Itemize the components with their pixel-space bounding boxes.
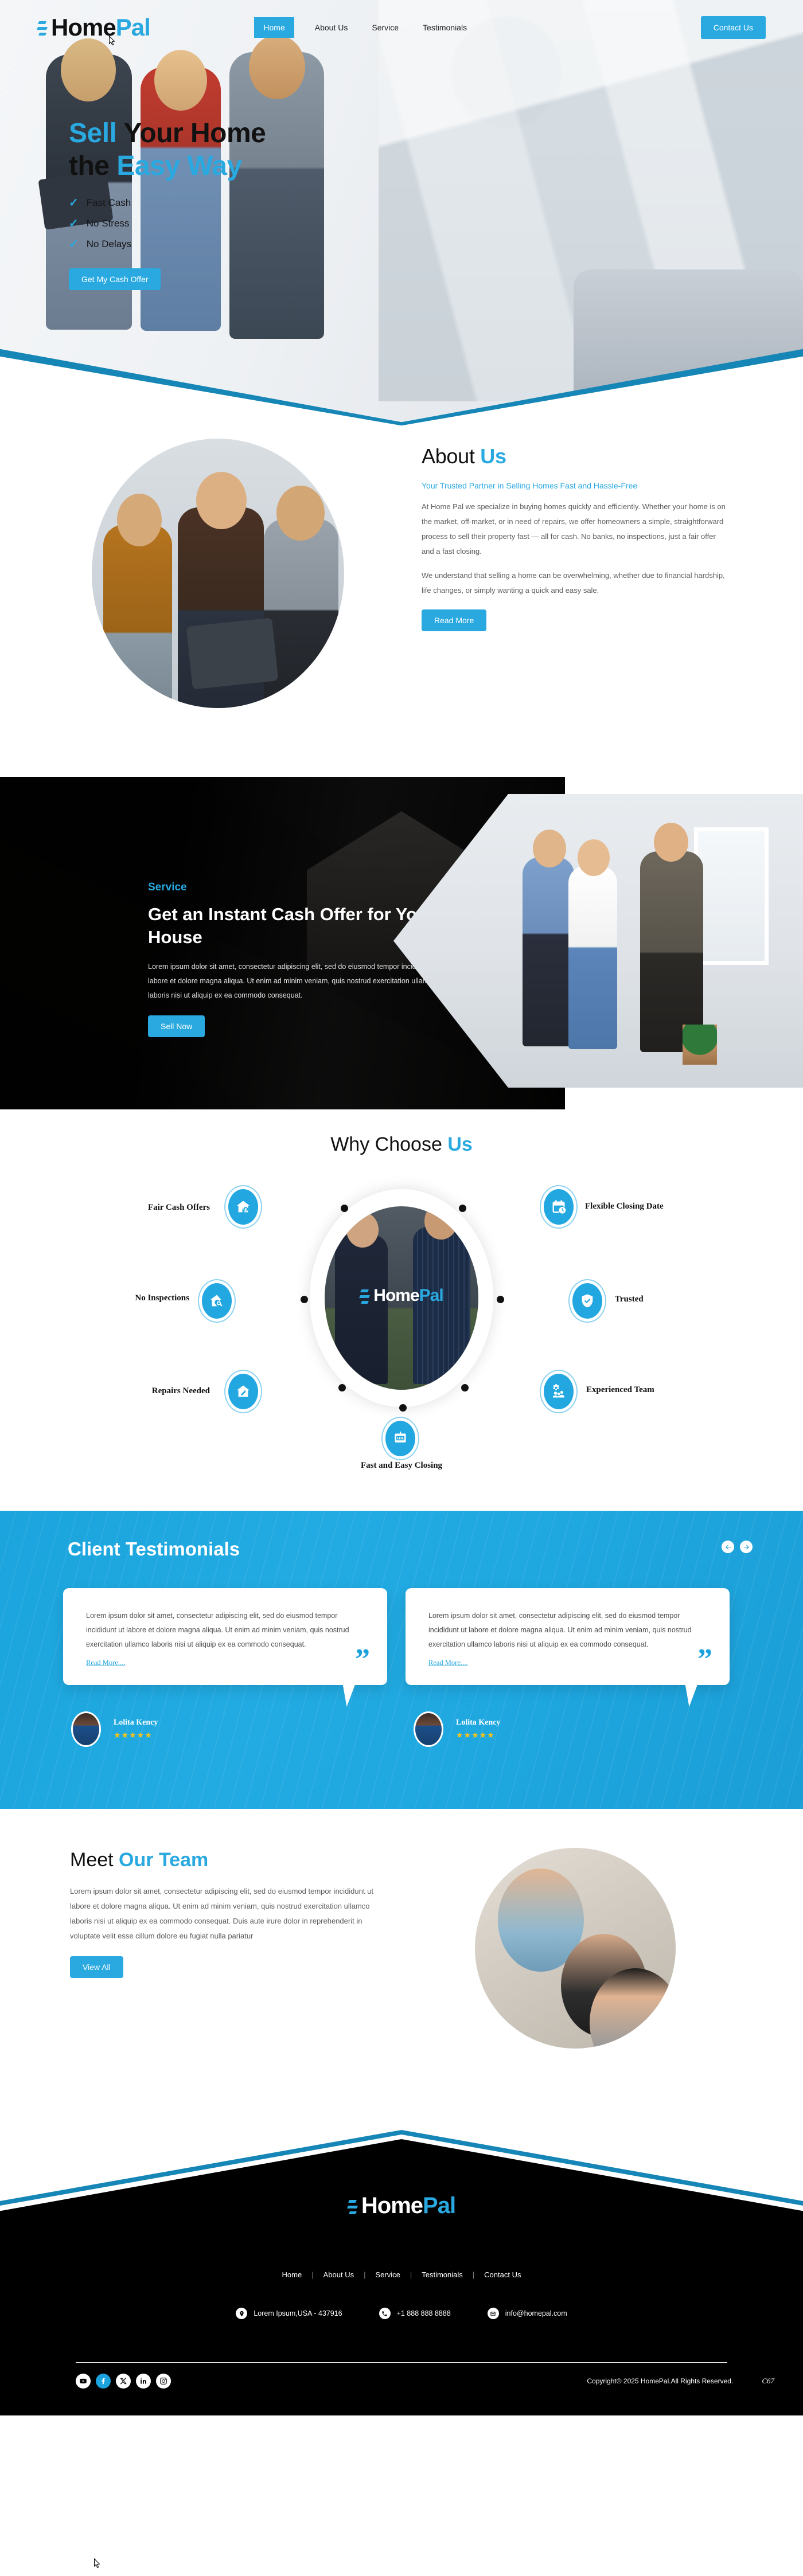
orbit-dot bbox=[497, 1296, 504, 1303]
contact-us-button[interactable]: Contact Us bbox=[701, 16, 766, 39]
check-icon: ✓ bbox=[69, 239, 79, 250]
testimonial-card: Lorem ipsum dolor sit amet, consectetur … bbox=[63, 1588, 387, 1747]
footer-nav-home[interactable]: Home bbox=[272, 2270, 312, 2279]
footer-logo-home: Home bbox=[361, 2193, 423, 2219]
shield-check-icon bbox=[579, 1293, 595, 1309]
bubble-tail bbox=[342, 1684, 359, 1707]
team-title-hl: Our Team bbox=[119, 1849, 208, 1871]
why-title-hl: Us bbox=[447, 1133, 472, 1155]
team-title-plain: Meet bbox=[70, 1849, 119, 1871]
calendar-clock-icon bbox=[551, 1199, 567, 1215]
house-magnifier-icon bbox=[209, 1293, 225, 1309]
footer-socials bbox=[76, 2374, 171, 2389]
about-subtitle: Your Trusted Partner in Selling Homes Fa… bbox=[422, 481, 726, 490]
testimonials-next-button[interactable] bbox=[740, 1541, 753, 1553]
feature-label-fair-cash-offers: Fair Cash Offers bbox=[107, 1202, 210, 1214]
footer-address-text: Lorem Ipsum,USA - 437916 bbox=[254, 2309, 342, 2317]
x-twitter-icon[interactable] bbox=[116, 2374, 131, 2389]
about-title-plain: About bbox=[422, 444, 480, 468]
hero-benefits-list: ✓Fast Cash ✓No Stress ✓No Delays bbox=[69, 197, 390, 250]
hero-title-rest2: the bbox=[69, 151, 116, 181]
why-title-plain: Why Choose bbox=[330, 1133, 447, 1155]
footer-navigation: Home| About Us| Service| Testimonials| C… bbox=[0, 2270, 803, 2279]
orbit-dot bbox=[301, 1296, 308, 1303]
footer-address: Lorem Ipsum,USA - 437916 bbox=[236, 2308, 342, 2319]
testimonial-bubble: Lorem ipsum dolor sit amet, consectetur … bbox=[406, 1588, 730, 1685]
rating-stars: ★★★★★ bbox=[114, 1730, 158, 1740]
hero-benefit-label: No Delays bbox=[87, 239, 131, 250]
get-my-cash-offer-button[interactable]: Get My Cash Offer bbox=[69, 268, 161, 290]
instagram-icon[interactable] bbox=[156, 2374, 171, 2389]
about-title: About Us bbox=[422, 444, 726, 468]
feature-icon-no-inspections[interactable] bbox=[202, 1283, 232, 1319]
avatar bbox=[71, 1711, 101, 1747]
testimonial-meta: Lolita Kency ★★★★★ bbox=[406, 1711, 730, 1747]
feature-icon-fast-and-easy-closing[interactable] bbox=[385, 1421, 415, 1456]
testimonial-author-name: Lolita Kency bbox=[456, 1718, 500, 1727]
footer-ref-code: C67 bbox=[762, 2376, 774, 2386]
service-copy: Service Get an Instant Cash Offer for Yo… bbox=[148, 881, 446, 1037]
team-title: Meet Our Team bbox=[70, 1849, 380, 1871]
footer-nav-service[interactable]: Service bbox=[365, 2270, 410, 2279]
testimonial-quote: Lorem ipsum dolor sit amet, consectetur … bbox=[428, 1609, 707, 1652]
footer-email: info@homepal.com bbox=[488, 2308, 567, 2319]
feature-label-fast-and-easy-closing: Fast and Easy Closing bbox=[333, 1460, 470, 1472]
site-logo[interactable]: HomePal bbox=[37, 14, 150, 41]
service-paragraph: Lorem ipsum dolor sit amet, consectetur … bbox=[148, 960, 446, 1003]
hero-title: Sell Your Homethe Easy Way bbox=[69, 118, 390, 182]
nav-item-service[interactable]: Service bbox=[368, 18, 402, 37]
logo-text-home: Home bbox=[51, 14, 116, 41]
nav-item-home[interactable]: Home bbox=[254, 17, 294, 38]
feature-label-no-inspections: No Inspections bbox=[86, 1292, 189, 1305]
linkedin-icon[interactable] bbox=[136, 2374, 151, 2389]
nav-item-testimonials[interactable]: Testimonials bbox=[419, 18, 470, 37]
footer-divider bbox=[76, 2362, 727, 2363]
rating-stars: ★★★★★ bbox=[456, 1730, 500, 1740]
testimonial-quote: Lorem ipsum dolor sit amet, consectetur … bbox=[86, 1609, 364, 1652]
footer-logo[interactable]: HomePal bbox=[0, 2193, 803, 2219]
nav-links: Home About Us Service Testimonials bbox=[254, 17, 470, 38]
logo-text-pal: Pal bbox=[116, 14, 150, 41]
hero-benefit-item: ✓No Stress bbox=[69, 218, 390, 229]
footer-copyright: Copyright© 2025 HomePal.All Rights Reser… bbox=[587, 2377, 733, 2385]
team-gear-icon bbox=[551, 1383, 567, 1400]
feature-label-repairs-needed: Repairs Needed bbox=[107, 1385, 210, 1398]
testimonial-read-more-link[interactable]: Read More.... bbox=[86, 1659, 125, 1667]
why-center-logo: HomePal bbox=[310, 1284, 493, 1310]
youtube-icon[interactable] bbox=[76, 2374, 91, 2389]
feature-label-trusted: Trusted bbox=[615, 1293, 718, 1306]
orbit-dot bbox=[338, 1384, 346, 1391]
service-kicker: Service bbox=[148, 881, 446, 894]
testimonial-read-more-link[interactable]: Read More.... bbox=[428, 1659, 467, 1667]
logo-mark-icon bbox=[37, 16, 50, 39]
sell-now-button[interactable]: Sell Now bbox=[148, 1015, 205, 1037]
testimonial-author-name: Lolita Kency bbox=[114, 1718, 158, 1727]
footer-contact-info: Lorem Ipsum,USA - 437916 +1 888 888 8888… bbox=[0, 2308, 803, 2319]
top-navigation: HomePal Home About Us Service Testimonia… bbox=[0, 0, 803, 54]
testimonials-arrows bbox=[722, 1541, 753, 1553]
facebook-icon[interactable] bbox=[96, 2374, 111, 2389]
testimonials-title: Client Testimonials bbox=[68, 1538, 240, 1560]
footer-nav-about-us[interactable]: About Us bbox=[314, 2270, 364, 2279]
feature-icon-flexible-closing-date[interactable] bbox=[544, 1189, 574, 1225]
about-paragraph-2: We understand that selling a home can be… bbox=[422, 568, 726, 598]
orbit-dot bbox=[341, 1205, 348, 1212]
logo-mark-icon bbox=[360, 1284, 372, 1307]
feature-label-experienced-team: Experienced Team bbox=[586, 1384, 695, 1397]
about-paragraph-1: At Home Pal we specialize in buying home… bbox=[422, 499, 726, 559]
orbit-dot bbox=[399, 1404, 407, 1412]
hero-copy: Sell Your Homethe Easy Way ✓Fast Cash ✓N… bbox=[69, 118, 390, 290]
team-copy: Meet Our Team Lorem ipsum dolor sit amet… bbox=[70, 1849, 380, 1978]
mouse-cursor-icon bbox=[93, 2558, 101, 2569]
why-logo-pal: Pal bbox=[419, 1286, 443, 1305]
testimonial-card: Lorem ipsum dolor sit amet, consectetur … bbox=[406, 1588, 730, 1747]
team-section: Meet Our Team Lorem ipsum dolor sit amet… bbox=[0, 1809, 803, 2130]
why-choose-us-section: Why Choose Us HomePal bbox=[0, 1109, 803, 1511]
testimonials-section: Client Testimonials Lorem ipsum dolor si… bbox=[0, 1511, 803, 1809]
hero-title-hl2: Easy Way bbox=[116, 151, 241, 181]
hero-title-hl1: Sell bbox=[69, 118, 116, 148]
testimonials-cards: Lorem ipsum dolor sit amet, consectetur … bbox=[63, 1588, 730, 1747]
feature-icon-experienced-team[interactable] bbox=[544, 1374, 574, 1409]
footer-phone: +1 888 888 8888 bbox=[379, 2308, 451, 2319]
bubble-tail bbox=[685, 1684, 701, 1707]
testimonial-meta: Lolita Kency ★★★★★ bbox=[63, 1711, 387, 1747]
about-photo bbox=[92, 439, 344, 708]
closed-sign-icon bbox=[392, 1430, 408, 1447]
check-icon: ✓ bbox=[69, 197, 79, 209]
house-wrench-icon bbox=[235, 1383, 251, 1400]
footer-nav-testimonials[interactable]: Testimonials bbox=[412, 2270, 473, 2279]
orbit-dot bbox=[461, 1384, 469, 1391]
testimonials-prev-button[interactable] bbox=[722, 1541, 734, 1553]
footer-phone-text: +1 888 888 8888 bbox=[397, 2309, 451, 2317]
feature-icon-trusted[interactable] bbox=[572, 1283, 602, 1319]
check-icon: ✓ bbox=[69, 218, 79, 229]
footer-nav-contact-us[interactable]: Contact Us bbox=[474, 2270, 531, 2279]
feature-icon-repairs-needed[interactable] bbox=[228, 1374, 258, 1409]
house-dollar-icon bbox=[235, 1199, 251, 1215]
view-all-button[interactable]: View All bbox=[70, 1956, 123, 1978]
site-footer: HomePal Home| About Us| Service| Testimo… bbox=[0, 2130, 803, 2415]
location-pin-icon bbox=[236, 2308, 247, 2319]
avatar bbox=[414, 1711, 443, 1747]
phone-icon bbox=[379, 2308, 391, 2319]
team-paragraph: Lorem ipsum dolor sit amet, consectetur … bbox=[70, 1884, 380, 1944]
about-read-more-button[interactable]: Read More bbox=[422, 609, 486, 631]
nav-item-about-us[interactable]: About Us bbox=[311, 18, 352, 37]
logo-mark-icon bbox=[348, 2195, 360, 2218]
about-copy: About Us Your Trusted Partner in Selling… bbox=[422, 444, 726, 631]
service-section: Service Get an Instant Cash Offer for Yo… bbox=[0, 777, 803, 1109]
footer-logo-pal: Pal bbox=[423, 2193, 455, 2219]
arrow-left-icon bbox=[724, 1543, 732, 1551]
feature-label-flexible-closing-date: Flexible Closing Date bbox=[585, 1201, 700, 1213]
hero-benefit-label: No Stress bbox=[87, 218, 130, 229]
mouse-cursor-icon bbox=[108, 36, 116, 46]
orbit-dot bbox=[459, 1205, 466, 1212]
about-section: About Us Your Trusted Partner in Selling… bbox=[0, 427, 803, 777]
why-center-circle: HomePal bbox=[310, 1189, 493, 1407]
feature-icon-fair-cash-offers[interactable] bbox=[228, 1189, 258, 1225]
hero-benefit-item: ✓No Delays bbox=[69, 239, 390, 250]
hero-section: HomePal Home About Us Service Testimonia… bbox=[0, 0, 803, 427]
landing-page: HomePal Home About Us Service Testimonia… bbox=[0, 0, 803, 2415]
why-title: Why Choose Us bbox=[0, 1109, 803, 1156]
team-photo bbox=[475, 1848, 676, 2049]
about-title-hl: Us bbox=[480, 444, 506, 468]
hero-benefit-item: ✓Fast Cash bbox=[69, 197, 390, 209]
why-logo-home: Home bbox=[373, 1286, 419, 1305]
footer-email-text: info@homepal.com bbox=[505, 2309, 567, 2317]
envelope-icon bbox=[488, 2308, 499, 2319]
arrow-right-icon bbox=[743, 1543, 750, 1551]
hero-benefit-label: Fast Cash bbox=[87, 197, 131, 209]
hero-title-rest1: Your Home bbox=[116, 118, 266, 148]
testimonial-bubble: Lorem ipsum dolor sit amet, consectetur … bbox=[63, 1588, 387, 1685]
